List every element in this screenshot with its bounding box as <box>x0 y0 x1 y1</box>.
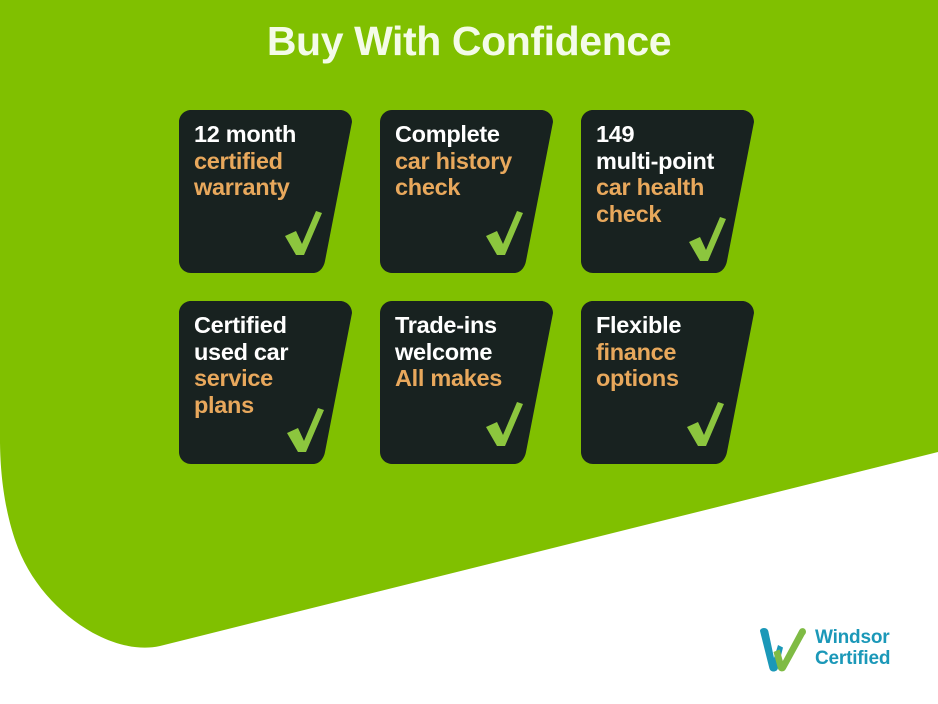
check-icon <box>484 400 524 448</box>
logo-line-windsor: Windsor <box>815 628 890 649</box>
benefit-card-149-multi-point-car-health-check[interactable]: 149 multi-point car health check <box>581 110 754 273</box>
card-line-white: Flexible <box>596 312 738 339</box>
check-icon <box>283 209 323 257</box>
benefit-card-trade-ins-welcome-all-makes[interactable]: Trade-ins welcome All makes <box>380 301 553 464</box>
benefit-card-certified-used-car-service-plans[interactable]: Certified used car service plans <box>179 301 352 464</box>
card-line-white: multi-point <box>596 148 738 175</box>
card-text: Certified used car service plans <box>194 312 336 419</box>
benefit-card-complete-car-history-check[interactable]: Complete car history check <box>380 110 553 273</box>
card-line-orange: certified <box>194 148 336 175</box>
benefit-card-row-2: Certified used car service plans Trade-i… <box>179 301 771 464</box>
card-line-white: 12 month <box>194 121 336 148</box>
check-icon <box>685 400 725 448</box>
card-text: 149 multi-point car health check <box>596 121 738 228</box>
card-line-white: Complete <box>395 121 537 148</box>
logo-wordmark: Windsor Certified <box>815 628 890 669</box>
card-line-white: welcome <box>395 339 537 366</box>
check-icon <box>484 209 524 257</box>
card-line-orange: check <box>395 174 537 201</box>
windsor-certified-logo[interactable]: Windsor Certified <box>757 625 890 673</box>
benefit-card-row-1: 12 month certified warranty Complete car… <box>179 110 771 273</box>
card-line-white: 149 <box>596 121 738 148</box>
logo-line-certified: Certified <box>815 649 890 670</box>
card-line-white: Trade-ins <box>395 312 537 339</box>
card-line-orange: car history <box>395 148 537 175</box>
benefit-card-flexible-finance-options[interactable]: Flexible finance options <box>581 301 754 464</box>
card-text: Trade-ins welcome All makes <box>395 312 537 392</box>
benefit-card-12-month-certified-warranty[interactable]: 12 month certified warranty <box>179 110 352 273</box>
card-text: Complete car history check <box>395 121 537 201</box>
benefit-card-grid: 12 month certified warranty Complete car… <box>179 110 771 492</box>
poster-canvas: Buy With Confidence 12 month certified w… <box>0 0 938 704</box>
card-line-orange: finance <box>596 339 738 366</box>
card-line-orange: options <box>596 365 738 392</box>
card-line-orange: car health <box>596 174 738 201</box>
card-line-orange: service <box>194 365 336 392</box>
check-icon <box>285 406 325 454</box>
card-line-orange: All makes <box>395 365 537 392</box>
card-line-white: Certified <box>194 312 336 339</box>
card-text: 12 month certified warranty <box>194 121 336 201</box>
card-text: Flexible finance options <box>596 312 738 392</box>
page-title: Buy With Confidence <box>0 18 938 65</box>
check-icon <box>687 215 727 263</box>
windsor-w-icon <box>757 625 807 673</box>
card-line-white: used car <box>194 339 336 366</box>
card-line-orange: warranty <box>194 174 336 201</box>
